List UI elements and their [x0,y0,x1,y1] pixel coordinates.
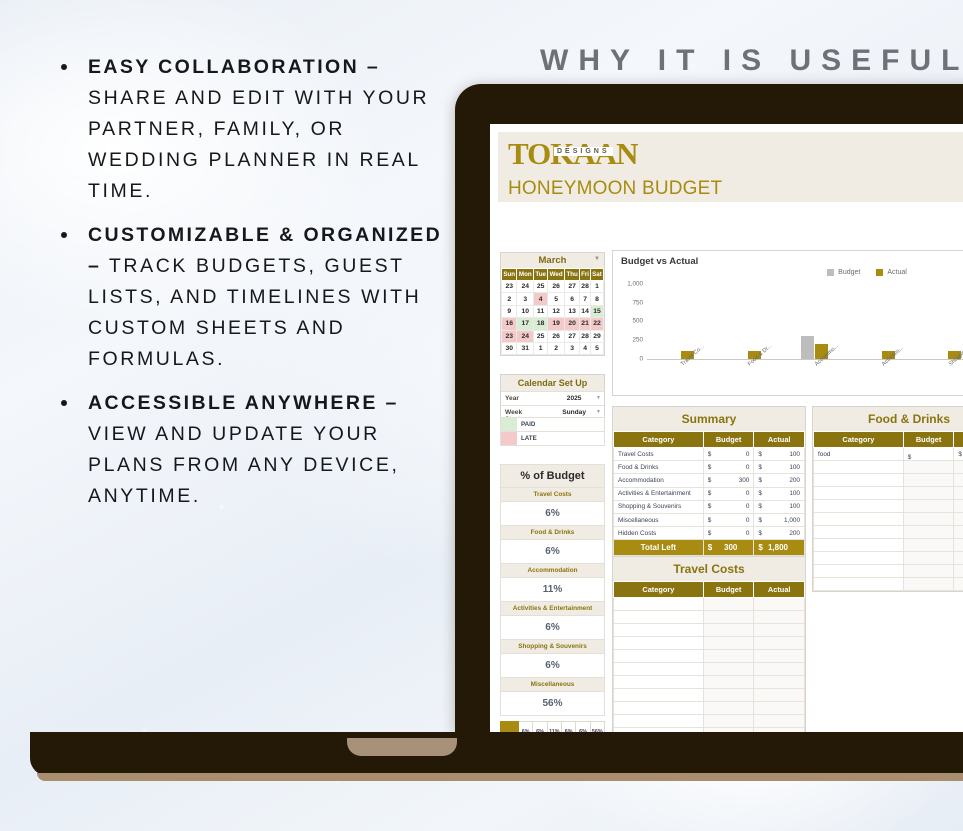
calendar-day[interactable]: 23 [502,330,517,342]
table-row [614,715,805,728]
chart-title: Budget vs Actual [613,251,963,267]
summary-body: Travel Costs$0$100Food & Drinks$0$100Acc… [614,448,805,556]
table-row [614,624,805,637]
category-cell[interactable] [614,598,704,611]
budget-cell[interactable] [903,500,954,513]
x-tick: Shopping... [914,360,963,394]
chart-legend: BudgetActual [613,269,963,276]
brand-bar: TOKAAN DESIGNS [498,132,963,174]
y-axis-tick: 750 [613,299,643,306]
percent-category: Accommodation [500,564,605,578]
budget-vs-actual-chart[interactable]: Budget vs Actual BudgetActual 0250500750… [612,250,963,396]
category-cell[interactable] [814,461,904,474]
legend-label: Actual [887,269,906,276]
calendar-day[interactable]: 26 [548,281,565,293]
y-axis-tick: 500 [613,318,643,325]
table-row: Accommodation$300$200 [614,474,805,487]
logo-subtext: DESIGNS [554,147,613,156]
y-axis-tick: 250 [613,337,643,344]
benefit-body: TRACK BUDGETS, GUEST LISTS, AND TIMELINE… [88,255,421,370]
category-cell[interactable] [814,474,904,487]
currency-symbol: $ [758,517,762,524]
table-row [814,474,963,487]
y-axis-tick: 0 [613,356,643,363]
currency-cell[interactable]: $200 [754,474,805,487]
table-row [614,663,805,676]
category-cell[interactable] [814,552,904,565]
category-cell[interactable]: Miscellaneous [614,513,704,526]
status-legend-row: LATE [500,432,605,446]
actual-cell[interactable] [954,461,963,474]
calendar-day[interactable]: 29 [591,330,604,342]
budget-cell[interactable] [703,715,754,728]
calendar-day[interactable]: 23 [502,281,517,293]
currency-cell[interactable]: $0 [703,527,754,540]
food-drinks-table[interactable]: Food & Drinks CategoryBudgetActual food$… [812,406,963,592]
calendar-day[interactable]: 13 [565,305,580,317]
percent-value: 11% [500,578,605,602]
table-row: Hidden Costs$0$200 [614,527,805,540]
currency-symbol: $ [708,543,712,552]
table-row [614,676,805,689]
x-tick: Travel Co... [647,360,714,394]
status-swatch [501,432,517,445]
calendar-widget[interactable]: March ▼ SunMonTueWedThuFriSat 2324252627… [500,252,605,356]
currency-symbol: $ [708,464,712,471]
actual-cell[interactable] [954,578,963,591]
percent-value: 6% [500,502,605,526]
calendar-day[interactable]: 27 [565,330,580,342]
calendar-day[interactable]: 10 [517,305,534,317]
actual-cell[interactable] [954,500,963,513]
budget-cell[interactable] [903,513,954,526]
currency-symbol: $ [708,451,712,458]
currency-cell[interactable]: $0 [703,487,754,500]
chart-bars [647,280,963,359]
currency-symbol: $ [758,464,762,471]
table-row: Activities & Entertainment$0$100 [614,487,805,500]
table-row [614,702,805,715]
percent-rows: Travel Costs6%Food & Drinks6%Accommodati… [500,488,605,716]
category-cell[interactable]: Shopping & Souvenirs [614,500,704,513]
travel-body: 1$$100.00 [614,598,805,733]
table-row [814,578,963,591]
calendar-day[interactable]: 8 [591,293,604,305]
calendar-day[interactable]: 25 [534,281,548,293]
calendar-day[interactable]: 5 [548,293,565,305]
currency-cell[interactable]: $0 [703,500,754,513]
table-row [614,611,805,624]
calendar-week-row: 23242526272829 [502,330,604,342]
mini-strip-swatch [500,721,519,732]
total-label: Total Left [614,540,704,556]
status-label: LATE [517,432,604,445]
currency-symbol: $ [708,530,712,537]
travel-costs-table[interactable]: Travel Costs CategoryBudgetActual 1$$100… [612,556,806,732]
percent-value: 56% [500,692,605,716]
actual-cell[interactable] [754,650,805,663]
percent-category: Shopping & Souvenirs [500,640,605,654]
calendar-day[interactable]: 18 [534,318,548,330]
actual-cell[interactable] [754,624,805,637]
percent-of-budget-panel: % of Budget Travel Costs6%Food & Drinks6… [500,464,605,716]
actual-cell[interactable] [954,565,963,578]
benefits-list: EASY COLLABORATION – SHARE AND EDIT WITH… [52,52,452,525]
chart-plot-area: 02505007501,000 [647,280,963,360]
actual-cell[interactable] [754,689,805,702]
column-header: Budget [703,582,754,598]
calendar-day[interactable]: 3 [517,293,534,305]
summary-header-row: CategoryBudgetActual [614,432,805,448]
laptop-lid: TOKAAN DESIGNS HONEYMOON BUDGET March ▼ … [455,84,963,732]
currency-symbol: $ [758,477,762,484]
category-cell[interactable] [614,702,704,715]
calendar-day[interactable]: 20 [565,318,580,330]
chevron-down-icon[interactable]: ▼ [594,256,600,262]
bullet-icon [61,232,67,238]
budget-cell[interactable] [703,689,754,702]
column-header: Actual [954,432,963,448]
calendar-day[interactable]: 5 [591,342,604,354]
budget-cell[interactable] [903,487,954,500]
legend-entry-budget[interactable]: Budget [827,269,860,276]
legend-entry-actual[interactable]: Actual [876,269,906,276]
calendar-day[interactable]: 1 [591,281,604,293]
status-swatch [501,418,517,431]
calendar-day[interactable]: 2 [502,293,517,305]
actual-cell[interactable] [954,513,963,526]
actual-cell[interactable] [754,663,805,676]
bullet-icon [61,400,67,406]
category-cell[interactable] [614,637,704,650]
percent-value: 6% [500,616,605,640]
category-cell[interactable]: Travel Costs [614,448,704,461]
currency-symbol: $ [708,477,712,484]
mini-strip-cell: 56% [591,721,605,732]
category-cell[interactable] [614,715,704,728]
percent-category: Activities & Entertainment [500,602,605,616]
travel-title: Travel Costs [613,557,805,581]
percent-value: 6% [500,540,605,564]
table-row [814,526,963,539]
currency-cell[interactable]: $0 [703,461,754,474]
status-legend-row: PAID [500,417,605,432]
calendar-week-row: 303112345 [502,342,604,354]
status-legend: PAIDLATE [500,417,605,446]
category-cell[interactable] [614,689,704,702]
calendar-day[interactable]: 1 [534,342,548,354]
budget-cell[interactable] [903,461,954,474]
column-header: Budget [703,432,754,448]
category-cell[interactable]: Food & Drinks [614,461,704,474]
column-header: Category [814,432,904,448]
calendar-day[interactable]: 21 [580,318,591,330]
bar-group [848,280,915,359]
category-cell[interactable] [814,565,904,578]
column-header: Category [614,432,704,448]
budget-cell[interactable] [703,702,754,715]
category-cell[interactable] [614,676,704,689]
actual-cell[interactable] [754,702,805,715]
mini-strip-cell: 6% [519,721,533,732]
table-row: food$$10 [814,448,963,461]
category-cell[interactable] [814,539,904,552]
budget-cell[interactable] [703,598,754,611]
chevron-down-icon[interactable]: ▼ [596,395,601,401]
summary-title: Summary [613,407,805,431]
currency-cell[interactable]: $1,800 [754,540,805,556]
currency-cell[interactable]: $100 [754,461,805,474]
calendar-day[interactable]: 4 [580,342,591,354]
actual-cell[interactable] [754,611,805,624]
percent-mini-strip: 6%6%11%6%6%56% [500,721,605,732]
benefit-lead: ACCESSIBLE ANYWHERE – [88,392,399,414]
calendar-day[interactable]: 14 [580,305,591,317]
category-cell[interactable]: Activities & Entertainment [614,487,704,500]
laptop-base [30,732,963,776]
benefit-body: SHARE AND EDIT WITH YOUR PARTNER, FAMILY… [88,87,429,202]
currency-cell[interactable]: $ [903,448,954,461]
currency-cell[interactable]: $100 [754,487,805,500]
currency-cell[interactable]: $300 [703,474,754,487]
laptop-screen: TOKAAN DESIGNS HONEYMOON BUDGET March ▼ … [490,124,963,732]
total-row: Total Left$300$1,800 [614,540,805,556]
benefit-item-1: EASY COLLABORATION – SHARE AND EDIT WITH… [52,52,452,207]
mini-strip-cell: 6% [533,721,547,732]
calendar-day[interactable]: 27 [565,281,580,293]
category-cell[interactable] [614,624,704,637]
calendar-week-row: 16171819202122 [502,318,604,330]
currency-symbol: $ [708,490,712,497]
table-row [614,689,805,702]
currency-symbol: $ [758,490,762,497]
setup-value[interactable]: 2025▼ [544,392,604,405]
category-cell[interactable] [814,487,904,500]
currency-symbol: $ [708,517,712,524]
currency-symbol: $ [958,451,962,458]
percent-value: 6% [500,654,605,678]
calendar-day[interactable]: 2 [548,342,565,354]
percent-category: Miscellaneous [500,678,605,692]
y-axis-tick: 1,000 [613,280,643,287]
calendar-month-label: March [539,255,567,266]
x-tick: Activities... [848,360,915,394]
table-row: Food & Drinks$0$100 [614,461,805,474]
bar-budget[interactable] [801,336,814,359]
calendar-day[interactable]: 12 [548,305,565,317]
calendar-weekday: Thu [565,269,580,281]
actual-cell[interactable] [954,487,963,500]
benefit-item-3: ACCESSIBLE ANYWHERE – VIEW AND UPDATE YO… [52,388,452,512]
calendar-setup-title: Calendar Set Up [501,375,604,391]
column-header: Budget [903,432,954,448]
mini-strip-cell: 11% [548,721,562,732]
calendar-day[interactable]: 28 [580,330,591,342]
percent-category: Food & Drinks [500,526,605,540]
category-cell[interactable]: Accommodation [614,474,704,487]
budget-cell[interactable] [703,624,754,637]
category-cell[interactable] [614,663,704,676]
actual-cell[interactable] [954,539,963,552]
calendar-day[interactable]: 26 [548,330,565,342]
budget-cell[interactable] [703,650,754,663]
budget-cell[interactable] [903,539,954,552]
legend-swatch [827,269,834,276]
laptop-base-lip [37,773,963,781]
food-header-row: CategoryBudgetActual [814,432,963,448]
calendar-week-row: 2324252627281 [502,281,604,293]
sheet-title: HONEYMOON BUDGET [498,174,963,202]
calendar-weekday: Sat [591,269,604,281]
currency-symbol: $ [758,530,762,537]
table-row [814,461,963,474]
calendar-day[interactable]: 16 [502,318,517,330]
calendar-weekday: Fri [580,269,591,281]
calendar-day[interactable]: 30 [502,342,517,354]
currency-cell[interactable]: $200 [754,527,805,540]
currency-symbol: $ [758,543,762,552]
table-row: Travel Costs$0$100 [614,448,805,461]
calendar-weekday: Sun [502,269,517,281]
category-cell[interactable]: Hidden Costs [614,527,704,540]
benefit-body: VIEW AND UPDATE YOUR PLANS FROM ANY DEVI… [88,423,400,507]
laptop-trackpad-notch [347,738,457,756]
mini-strip-cell: 6% [576,721,590,732]
summary-table[interactable]: Summary CategoryBudgetActual Travel Cost… [612,406,806,557]
table-row [614,598,805,611]
calendar-day[interactable]: 17 [517,318,534,330]
bar-group [914,280,963,359]
calendar-day[interactable]: 11 [534,305,548,317]
logo: TOKAAN DESIGNS [508,138,638,169]
calendar-day[interactable]: 28 [580,281,591,293]
table-row [814,552,963,565]
mini-strip-cell: 6% [562,721,576,732]
benefit-lead: EASY COLLABORATION – [88,56,380,78]
calendar-month-header[interactable]: March ▼ [501,253,604,268]
chart-x-axis-labels: Travel Co...Food & Dr...Accommo...Activi… [647,360,963,394]
column-header: Category [614,582,704,598]
calendar-grid[interactable]: SunMonTueWedThuFriSat 232425262728123456… [501,268,604,355]
chevron-down-icon[interactable]: ▼ [596,409,601,415]
calendar-day[interactable]: 4 [534,293,548,305]
budget-cell[interactable] [903,552,954,565]
table-row: Miscellaneous$0$1,000 [614,513,805,526]
actual-cell[interactable] [954,526,963,539]
currency-symbol: $ [908,454,912,461]
calendar-day[interactable]: 6 [565,293,580,305]
budget-cell[interactable] [703,676,754,689]
column-header: Actual [754,582,805,598]
actual-cell[interactable] [954,474,963,487]
calendar-day[interactable]: 3 [565,342,580,354]
calendar-day[interactable]: 15 [591,305,604,317]
page-title: WHY IT IS USEFUL [540,44,963,78]
budget-cell[interactable] [903,474,954,487]
column-header: Actual [754,432,805,448]
food-title: Food & Drinks [813,407,963,431]
currency-cell[interactable]: $300 [703,540,754,556]
calendar-week-row: 9101112131415 [502,305,604,317]
budget-cell[interactable] [703,663,754,676]
calendar-weekday: Tue [534,269,548,281]
actual-cell[interactable] [754,598,805,611]
category-cell[interactable] [814,500,904,513]
budget-cell[interactable] [703,611,754,624]
budget-cell[interactable] [903,578,954,591]
setup-row[interactable]: Year2025▼ [501,391,604,405]
table-row [814,539,963,552]
x-tick: Food & Dr... [714,360,781,394]
table-row [814,487,963,500]
actual-cell[interactable] [754,637,805,650]
category-cell[interactable]: food [814,448,904,461]
spreadsheet: TOKAAN DESIGNS HONEYMOON BUDGET March ▼ … [490,124,963,732]
calendar-week-row: 2345678 [502,293,604,305]
setup-key: Year [501,392,544,405]
benefit-item-2: CUSTOMIZABLE & ORGANIZED – TRACK BUDGETS… [52,220,452,375]
percent-category: Travel Costs [500,488,605,502]
calendar-day[interactable]: 22 [591,318,604,330]
table-row [814,565,963,578]
actual-cell[interactable] [754,676,805,689]
calendar-day[interactable]: 24 [517,330,534,342]
calendar-body: 2324252627281234567891011121314151617181… [502,281,604,355]
calendar-day[interactable]: 25 [534,330,548,342]
table-row [814,513,963,526]
currency-cell[interactable]: $100 [754,448,805,461]
category-cell[interactable] [814,526,904,539]
table-row [614,650,805,663]
calendar-day[interactable]: 24 [517,281,534,293]
bullet-icon [61,64,67,70]
currency-symbol: $ [708,503,712,510]
table-row [614,637,805,650]
category-cell[interactable] [814,578,904,591]
food-body: food$$10 [814,448,963,591]
budget-cell[interactable] [903,526,954,539]
calendar-day[interactable]: 31 [517,342,534,354]
category-cell[interactable] [614,611,704,624]
currency-cell[interactable]: $1,000 [754,513,805,526]
budget-cell[interactable] [903,565,954,578]
calendar-day[interactable]: 7 [580,293,591,305]
budget-cell[interactable] [703,637,754,650]
travel-header-row: CategoryBudgetActual [614,582,805,598]
table-row [814,500,963,513]
calendar-day[interactable]: 19 [548,318,565,330]
currency-cell[interactable]: $0 [703,448,754,461]
table-row: Shopping & Souvenirs$0$100 [614,500,805,513]
category-cell[interactable] [814,513,904,526]
legend-swatch [876,269,883,276]
category-cell[interactable] [614,650,704,663]
actual-cell[interactable] [954,552,963,565]
currency-cell[interactable]: $100 [754,500,805,513]
currency-cell[interactable]: $10 [954,448,963,461]
currency-symbol: $ [758,451,762,458]
calendar-day[interactable]: 9 [502,305,517,317]
status-label: PAID [517,418,604,431]
x-tick: Accommo... [781,360,848,394]
calendar-weekday: Wed [548,269,565,281]
currency-symbol: $ [758,503,762,510]
legend-label: Budget [838,269,860,276]
calendar-weekday: Mon [517,269,534,281]
currency-cell[interactable]: $0 [703,513,754,526]
calendar-weekday-row: SunMonTueWedThuFriSat [502,269,604,281]
actual-cell[interactable] [754,715,805,728]
